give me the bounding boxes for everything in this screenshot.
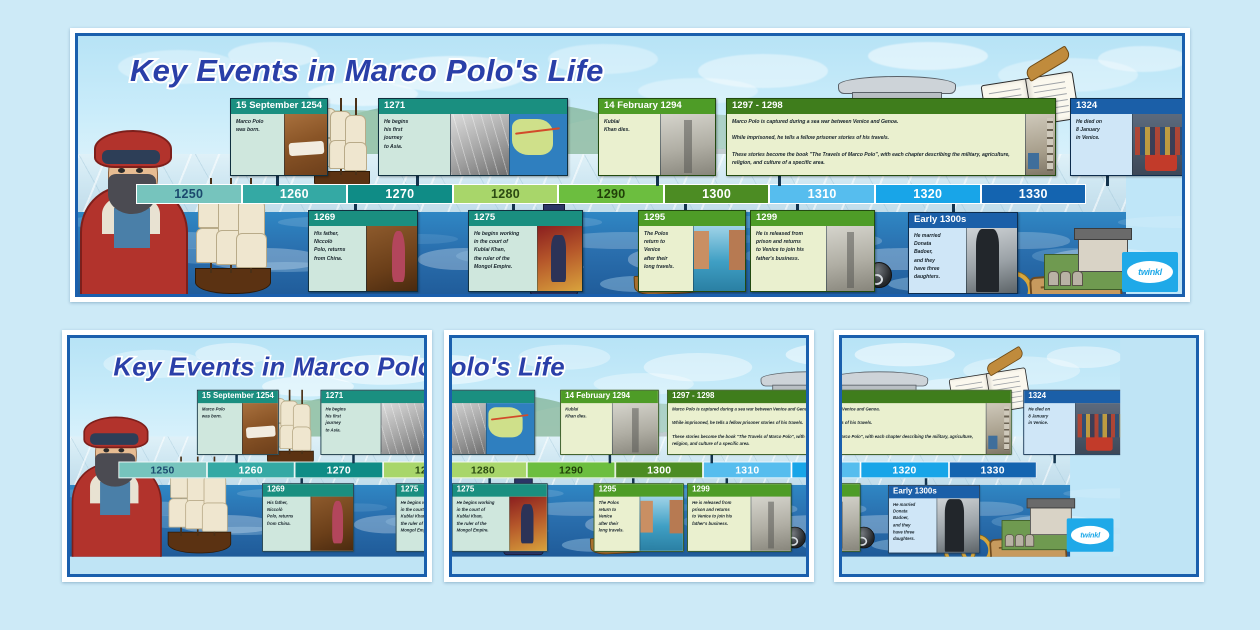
event-card-body: Marco Polo is captured during a sea war … bbox=[727, 114, 1055, 175]
event-card-venice-canal-image bbox=[693, 226, 745, 291]
ship-sail bbox=[202, 502, 228, 531]
main-banner-stage: Key Events in Marco Polo's Life125012601… bbox=[78, 36, 1182, 294]
card-connector-stem bbox=[778, 176, 781, 186]
thumbnail-artwork-2: Key Events in Marco Polo's Life125012601… bbox=[452, 338, 806, 557]
event-card-body: He is released from prison and returns t… bbox=[842, 497, 860, 551]
event-card[interactable]: 1275He begins working in the court of Ku… bbox=[396, 483, 424, 551]
event-card-wedding-couple-image bbox=[966, 228, 1017, 293]
twinkl-logo[interactable]: twinkl bbox=[1067, 518, 1114, 551]
decade-label: 1250 bbox=[150, 464, 174, 476]
event-card-body: He died on 8 January in Venice. bbox=[1071, 114, 1182, 175]
card-connector-stem bbox=[352, 455, 354, 463]
event-card-text: His father, Niccolò Polo, returns from C… bbox=[263, 497, 310, 551]
book-text-line bbox=[1034, 87, 1066, 93]
decade-label: 1280 bbox=[491, 187, 520, 201]
event-card-harbour-and-asia-map-image bbox=[509, 114, 567, 175]
decade-marker-1280[interactable]: 1280 bbox=[452, 462, 527, 479]
event-card-ship-return-image bbox=[310, 497, 353, 551]
event-card[interactable]: 1297 - 1298Marco Polo is captured during… bbox=[726, 98, 1056, 176]
decade-label: 1270 bbox=[385, 187, 414, 201]
decade-marker-1250[interactable]: 1250 bbox=[118, 462, 206, 479]
twinkl-wordmark: twinkl bbox=[1138, 267, 1162, 277]
event-card-text: He begins working in the court of Kublai… bbox=[469, 226, 537, 291]
card-connector-stem bbox=[1053, 455, 1055, 463]
timeline-artwork: Key Events in Marco Polo's Life125012601… bbox=[78, 36, 1182, 294]
event-card-harbour-photo-image bbox=[450, 114, 508, 175]
ship-sail bbox=[344, 142, 367, 171]
card-connector-stem bbox=[235, 455, 237, 463]
polo-eye bbox=[118, 168, 125, 173]
twinkl-cloud-icon: twinkl bbox=[1071, 526, 1109, 544]
event-card[interactable]: 1269His father, Niccolò Polo, returns fr… bbox=[262, 483, 354, 551]
decade-marker-1290[interactable]: 1290 bbox=[527, 462, 615, 479]
event-card[interactable]: 1297 - 1298Marco Polo is captured during… bbox=[667, 390, 806, 455]
decade-marker-1310[interactable]: 1310 bbox=[704, 462, 792, 479]
ship-sail bbox=[292, 427, 311, 451]
event-card-baby-in-crib-image bbox=[242, 403, 278, 454]
event-card[interactable]: 1275He begins working in the court of Ku… bbox=[468, 210, 583, 292]
main-banner-inner: Key Events in Marco Polo's Life125012601… bbox=[75, 33, 1185, 297]
event-card-text: The Polos return to Venice after their l… bbox=[595, 497, 640, 551]
decade-label: 1260 bbox=[239, 464, 263, 476]
decade-marker-1310[interactable]: 1310 bbox=[842, 462, 860, 479]
event-card[interactable]: 1269His father, Niccolò Polo, returns fr… bbox=[308, 210, 418, 292]
cloud-shape bbox=[868, 42, 988, 70]
decade-marker-1300[interactable]: 1300 bbox=[664, 184, 770, 204]
cloud-shape bbox=[855, 343, 955, 366]
decade-label: 1290 bbox=[559, 464, 583, 476]
event-card-prison-door-image bbox=[751, 497, 791, 551]
event-card-ship-return-image bbox=[366, 226, 417, 291]
page-3-preview[interactable]: Key Events in Marco Polo's Life125012601… bbox=[834, 330, 1204, 582]
event-card-date: 1324 bbox=[1071, 99, 1182, 114]
event-card-body: He begins working in the court of Kublai… bbox=[453, 497, 547, 551]
event-card-date: 14 February 1294 bbox=[561, 391, 658, 403]
ship-sail bbox=[238, 200, 265, 237]
decade-marker-1300[interactable]: 1300 bbox=[616, 462, 704, 479]
event-card-date: Early 1300s bbox=[909, 213, 1017, 228]
event-card-great-wall-of-china-image bbox=[612, 403, 658, 454]
book-text-line bbox=[989, 88, 1021, 94]
decade-marker-1280[interactable]: 1280 bbox=[453, 184, 559, 204]
event-card-text: Marco Polo was born. bbox=[198, 403, 242, 454]
event-card-mongol-court-image bbox=[537, 226, 582, 291]
event-card[interactable]: 14 February 1294Kublai Khan dies. bbox=[561, 390, 660, 455]
event-card-prison-door-image bbox=[842, 497, 860, 551]
gravestone bbox=[1025, 534, 1034, 547]
marco-polo-illustration bbox=[78, 128, 186, 294]
event-card-body: He begins his first journey to Asia. bbox=[379, 114, 567, 175]
decade-label: 1330 bbox=[980, 464, 1004, 476]
decade-label: 1260 bbox=[280, 187, 309, 201]
event-card-deathbed-scene-image bbox=[1075, 403, 1120, 454]
event-card-body: The Polos return to Venice after their l… bbox=[595, 497, 684, 551]
page-2-artwork: Key Events in Marco Polo's Life125012601… bbox=[452, 338, 806, 557]
event-card-body: The Polos return to Venice after their l… bbox=[639, 226, 745, 291]
gravestone bbox=[1072, 271, 1083, 286]
page-1-artwork: Key Events in Marco Polo's Life125012601… bbox=[70, 338, 424, 557]
event-card-text: He is released from prison and returns t… bbox=[688, 497, 751, 551]
decade-marker-1310[interactable]: 1310 bbox=[769, 184, 875, 204]
event-card-text: Marco Polo is captured during a sea war … bbox=[727, 114, 1025, 175]
card-connector-stem bbox=[952, 204, 955, 212]
event-card[interactable]: 15 September 1254Marco Polo was born. bbox=[197, 390, 279, 455]
event-card-baby-in-crib-image bbox=[284, 114, 327, 175]
event-card-date: 1275 bbox=[469, 211, 582, 226]
event-card-prison-door-image bbox=[826, 226, 874, 291]
event-card-date: 15 September 1254 bbox=[198, 391, 278, 403]
card-connector-stem bbox=[656, 176, 659, 186]
card-connector-stem bbox=[925, 478, 927, 485]
event-card-harbour-photo-image bbox=[381, 403, 424, 454]
event-card-date: 14 February 1294 bbox=[599, 99, 715, 114]
event-card-text: Kublai Khan dies. bbox=[599, 114, 660, 175]
event-card-text: Marco Polo is captured during a sea war … bbox=[668, 403, 806, 454]
event-card[interactable]: 1324He died on 8 January in Venice. bbox=[1070, 98, 1182, 176]
page-3-preview-stage: Key Events in Marco Polo's Life125012601… bbox=[842, 338, 1196, 574]
event-card-great-wall-of-china-image bbox=[660, 114, 715, 175]
event-card-body: He begins his first journey to Asia. bbox=[321, 403, 424, 454]
event-card[interactable]: 15 September 1254Marco Polo was born. bbox=[230, 98, 328, 176]
event-card[interactable]: 1299He is released from prison and retur… bbox=[842, 483, 860, 551]
church-building bbox=[1030, 505, 1072, 535]
event-card-text: Marco Polo was born. bbox=[231, 114, 284, 175]
page-1-preview-inner: Key Events in Marco Polo's Life125012601… bbox=[67, 335, 427, 577]
timeline-axis: 125012601270128012901300131013201330 bbox=[452, 462, 806, 479]
church-roof bbox=[1074, 228, 1132, 240]
church-roof bbox=[1027, 498, 1075, 508]
decade-label: 1280 bbox=[415, 464, 424, 476]
twinkl-wordmark: twinkl bbox=[1080, 531, 1100, 539]
decade-marker-1290[interactable]: 1290 bbox=[558, 184, 664, 204]
page-3-preview-inner: Key Events in Marco Polo's Life125012601… bbox=[839, 335, 1199, 577]
event-card-text: He begins his first journey to Asia. bbox=[321, 403, 380, 454]
polo-eye bbox=[118, 448, 124, 452]
decade-label: 1310 bbox=[808, 187, 837, 201]
event-card[interactable]: 1324He died on 8 January in Venice. bbox=[1023, 390, 1120, 455]
event-card-body: His father, Niccolò Polo, returns from C… bbox=[309, 226, 417, 291]
event-card-date: 1269 bbox=[309, 211, 417, 226]
event-card-body: He married Donata Badoer, and they have … bbox=[889, 498, 979, 552]
event-card-date: 1324 bbox=[1024, 391, 1120, 403]
event-card-harbour-photo-image bbox=[452, 403, 486, 454]
event-card-date: 1295 bbox=[595, 484, 684, 496]
gravestone bbox=[1015, 534, 1024, 547]
cloud-shape bbox=[1047, 346, 1120, 368]
event-card-body: Kublai Khan dies. bbox=[599, 114, 715, 175]
event-card[interactable]: 1271He begins his first journey to Asia. bbox=[321, 390, 425, 455]
event-card-text: He is released from prison and returns t… bbox=[751, 226, 826, 291]
ship-sail bbox=[203, 475, 226, 506]
event-card-text: He begins his first journey to Asia. bbox=[379, 114, 450, 175]
main-banner-frame: Key Events in Marco Polo's Life125012601… bbox=[70, 28, 1190, 302]
book-text-line bbox=[993, 376, 1020, 381]
decade-marker-1260[interactable]: 1260 bbox=[242, 184, 348, 204]
decade-marker-1260[interactable]: 1260 bbox=[207, 462, 295, 479]
event-card-date: 1299 bbox=[842, 484, 860, 496]
page-1-preview[interactable]: Key Events in Marco Polo's Life125012601… bbox=[62, 330, 432, 582]
event-card-date: 1295 bbox=[639, 211, 745, 226]
event-card[interactable]: 14 February 1294Kublai Khan dies. bbox=[598, 98, 716, 176]
book-text-line bbox=[955, 382, 982, 387]
event-card-body: He is released from prison and returns t… bbox=[751, 226, 874, 291]
event-card-text: The Polos return to Venice after their l… bbox=[639, 226, 693, 291]
event-card[interactable]: 1295The Polos return to Venice after the… bbox=[638, 210, 746, 292]
event-card-date: 15 September 1254 bbox=[231, 99, 327, 114]
event-card-date: Early 1300s bbox=[889, 486, 979, 498]
decade-marker-1330[interactable]: 1330 bbox=[948, 462, 1036, 479]
decade-label: 1300 bbox=[647, 464, 671, 476]
gravestone bbox=[1005, 534, 1014, 547]
event-card-body: He married Donata Badoer, and they have … bbox=[909, 228, 1017, 293]
event-card-body: His father, Niccolò Polo, returns from C… bbox=[263, 497, 353, 551]
event-card-date: 1299 bbox=[688, 484, 791, 496]
event-card-body: Marco Polo is captured during a sea war … bbox=[842, 403, 1011, 454]
event-card-date: 1299 bbox=[751, 211, 874, 226]
decade-marker-1320[interactable]: 1320 bbox=[875, 184, 981, 204]
twinkl-cloud-icon: twinkl bbox=[1127, 261, 1173, 283]
event-card-body: He begins working in the court of Kublai… bbox=[469, 226, 582, 291]
marco-polo-illustration bbox=[70, 415, 160, 557]
page-1-preview-stage: Key Events in Marco Polo's Life125012601… bbox=[70, 338, 424, 574]
event-card-text: He married Donata Badoer, and they have … bbox=[909, 228, 966, 293]
event-card-body: He begins working in the court of Kublai… bbox=[396, 497, 424, 551]
timeline-axis: 125012601270128012901300131013201330 bbox=[136, 184, 1086, 204]
book-text-line bbox=[993, 381, 1020, 386]
page-title: Key Events in Marco Polo's Life bbox=[130, 53, 604, 89]
event-card-date: 1275 bbox=[396, 484, 424, 496]
event-card-body: Marco Polo was born. bbox=[198, 403, 278, 454]
polo-torso bbox=[114, 208, 150, 248]
event-card[interactable]: 1295The Polos return to Venice after the… bbox=[594, 483, 684, 551]
event-card-text: His father, Niccolò Polo, returns from C… bbox=[309, 226, 366, 291]
decade-label: 1320 bbox=[913, 187, 942, 201]
timeline-axis: 125012601270128012901300131013201330 bbox=[842, 462, 1037, 479]
event-card-text: He died on 8 January in Venice. bbox=[1071, 114, 1132, 175]
page-2-preview-stage: Key Events in Marco Polo's Life125012601… bbox=[452, 338, 806, 574]
page-2-preview-inner: Key Events in Marco Polo's Life125012601… bbox=[449, 335, 809, 577]
timeline-axis: 125012601270128012901300131013201330 bbox=[118, 462, 424, 479]
ship-sail bbox=[236, 233, 267, 268]
page-title: Key Events in Marco Polo's Life bbox=[452, 352, 565, 382]
event-card[interactable]: Early 1300sHe married Donata Badoer, and… bbox=[888, 485, 980, 553]
event-card-prison-cell-image bbox=[985, 403, 1010, 454]
event-card-date: 1297 - 1298 bbox=[842, 391, 1011, 403]
event-card-text: He begins working in the court of Kublai… bbox=[453, 497, 510, 551]
event-card[interactable]: 1275He begins working in the court of Ku… bbox=[452, 483, 548, 551]
event-card-date: 1297 - 1298 bbox=[668, 391, 806, 403]
event-card-date: 1271 bbox=[452, 391, 535, 403]
event-card[interactable]: 1297 - 1298Marco Polo is captured during… bbox=[842, 390, 1012, 455]
event-card-venice-canal-image bbox=[639, 497, 683, 551]
event-card-body: Kublai Khan dies. bbox=[561, 403, 658, 454]
event-card-text: He died on 8 January in Venice. bbox=[1024, 403, 1075, 454]
card-connector-stem bbox=[276, 176, 279, 186]
decade-label: 1270 bbox=[327, 464, 351, 476]
event-card-date: 1275 bbox=[453, 484, 547, 496]
event-card[interactable]: 1299He is released from prison and retur… bbox=[687, 483, 791, 551]
decade-label: 1280 bbox=[471, 464, 495, 476]
event-card-harbour-and-asia-map-image bbox=[486, 403, 535, 454]
decade-marker-1280[interactable]: 1280 bbox=[383, 462, 424, 479]
event-card[interactable]: Early 1300sHe married Donata Badoer, and… bbox=[908, 212, 1018, 294]
event-card-body: Marco Polo is captured during a sea war … bbox=[668, 403, 806, 454]
decade-label: 1250 bbox=[174, 187, 203, 201]
event-card[interactable]: 1271He begins his first journey to Asia. bbox=[452, 390, 536, 455]
event-card-text: Kublai Khan dies. bbox=[561, 403, 612, 454]
event-card-body: Marco Polo was born. bbox=[231, 114, 327, 175]
decade-label: 1320 bbox=[892, 464, 916, 476]
ship-hull bbox=[168, 532, 231, 553]
event-card-wedding-couple-image bbox=[936, 498, 979, 552]
twinkl-logo[interactable]: twinkl bbox=[1122, 252, 1178, 292]
event-card-deathbed-scene-image bbox=[1132, 114, 1182, 175]
event-card-date: 1269 bbox=[263, 484, 353, 496]
polo-hatband bbox=[90, 433, 138, 445]
card-connector-stem bbox=[1106, 176, 1109, 186]
event-card-text: He married Donata Badoer, and they have … bbox=[889, 498, 936, 552]
decade-marker-1270[interactable]: 1270 bbox=[347, 184, 453, 204]
page-2-preview[interactable]: Key Events in Marco Polo's Life125012601… bbox=[444, 330, 814, 582]
decade-marker-1320[interactable]: 1320 bbox=[860, 462, 948, 479]
gravestone bbox=[1060, 271, 1071, 286]
event-card-date: 1271 bbox=[321, 391, 424, 403]
decade-label: 1330 bbox=[1019, 187, 1048, 201]
decade-marker-1330[interactable]: 1330 bbox=[981, 184, 1087, 204]
event-card-prison-cell-image bbox=[1025, 114, 1055, 175]
polo-eye bbox=[136, 168, 143, 173]
decade-marker-1320[interactable]: 1320 bbox=[792, 462, 806, 479]
decade-marker-1270[interactable]: 1270 bbox=[295, 462, 383, 479]
event-card[interactable]: 1299He is released from prison and retur… bbox=[750, 210, 875, 292]
polo-hatband bbox=[102, 150, 160, 164]
decade-label: 1310 bbox=[736, 464, 760, 476]
event-card-mongol-court-image bbox=[509, 497, 547, 551]
event-card-text: Marco Polo is captured during a sea war … bbox=[842, 403, 985, 454]
event-card-date: 1297 - 1298 bbox=[727, 99, 1055, 114]
event-card-body: He died on 8 January in Venice. bbox=[1024, 403, 1120, 454]
event-card-body: He begins his first journey to Asia. bbox=[452, 403, 535, 454]
thumbnail-artwork-1: Key Events in Marco Polo's Life125012601… bbox=[70, 338, 424, 557]
ship-hull bbox=[195, 268, 271, 294]
event-card[interactable]: 1271He begins his first journey to Asia. bbox=[378, 98, 568, 176]
polo-eye bbox=[103, 448, 109, 452]
thumbnail-artwork-3: Key Events in Marco Polo's Life125012601… bbox=[842, 338, 1120, 557]
book-text-line bbox=[1033, 81, 1065, 87]
card-connector-stem bbox=[416, 176, 419, 186]
decade-marker-1250[interactable]: 1250 bbox=[136, 184, 242, 204]
cloud-shape bbox=[1098, 46, 1182, 72]
event-card-body: He is released from prison and returns t… bbox=[688, 497, 791, 551]
event-card-date: 1271 bbox=[379, 99, 567, 114]
decade-label: 1290 bbox=[597, 187, 626, 201]
gravestone bbox=[1048, 271, 1059, 286]
page-title: Key Events in Marco Polo's Life bbox=[113, 352, 424, 382]
decade-label: 1300 bbox=[702, 187, 731, 201]
event-card-text: He begins working in the court of Kublai… bbox=[396, 497, 424, 551]
church-building bbox=[1078, 236, 1128, 272]
page-3-artwork: Key Events in Marco Polo's Life125012601… bbox=[842, 338, 1120, 557]
